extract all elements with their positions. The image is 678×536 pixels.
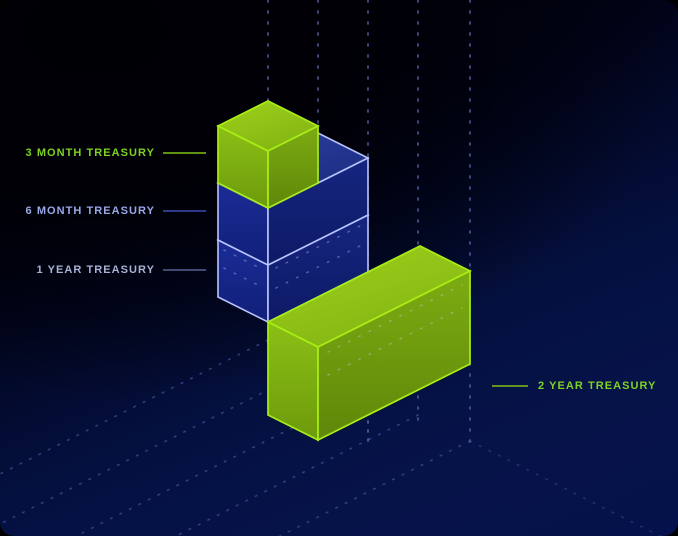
- label-2-year-treasury: 2 YEAR TREASURY: [538, 381, 656, 392]
- label-1-year-treasury: 1 YEAR TREASURY: [0, 265, 155, 276]
- label-3-month-treasury: 3 MONTH TREASURY: [0, 148, 155, 159]
- isometric-treasury-chart: 3 MONTH TREASURY 6 MONTH TREASURY 1 YEAR…: [0, 0, 678, 536]
- label-6-month-treasury: 6 MONTH TREASURY: [0, 206, 155, 217]
- floor-grid-right: [470, 441, 678, 536]
